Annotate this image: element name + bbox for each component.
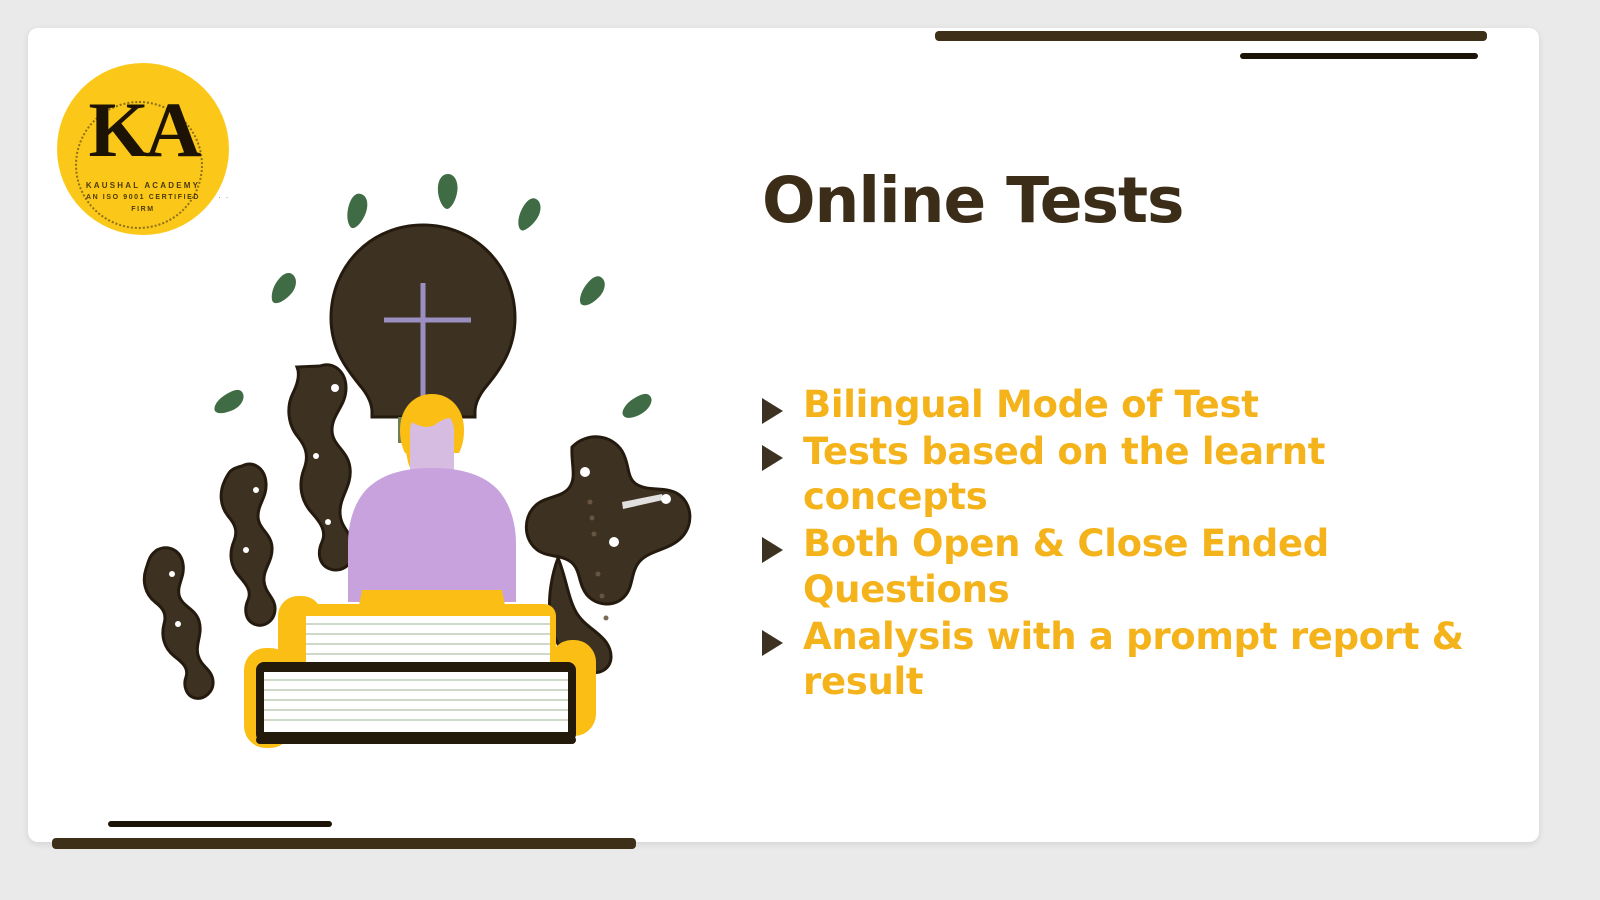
triangle-right-icon [762, 445, 783, 471]
top-thick-decor-bar [935, 31, 1487, 41]
list-item-label: Analysis with a prompt report & result [803, 614, 1522, 704]
slide-stage: KA KAUSHAL ACADEMY AN ISO 9001 CERTIFIED… [0, 0, 1600, 900]
list-item: Tests based on the learnt concepts [762, 429, 1522, 519]
list-item-label: Tests based on the learnt concepts [803, 429, 1522, 519]
list-item-label: Bilingual Mode of Test [803, 382, 1522, 427]
illustration-student-studying [120, 150, 740, 750]
triangle-right-icon [762, 398, 783, 424]
lower-book-bottom-edge [256, 736, 576, 744]
book-stack [244, 596, 596, 748]
content-column: Online Tests [762, 168, 1502, 234]
bottom-thin-decor-bar [108, 821, 332, 827]
page-title: Online Tests [762, 168, 1502, 234]
bottom-thick-decor-bar [52, 838, 636, 849]
top-thin-decor-bar [1240, 53, 1478, 59]
triangle-right-icon [762, 630, 783, 656]
list-item: Analysis with a prompt report & result [762, 614, 1522, 704]
triangle-right-icon [762, 537, 783, 563]
feature-bullet-list: Bilingual Mode of Test Tests based on th… [762, 382, 1522, 706]
list-item-label: Both Open & Close Ended Questions [803, 521, 1522, 611]
list-item: Bilingual Mode of Test [762, 382, 1522, 427]
list-item: Both Open & Close Ended Questions [762, 521, 1522, 611]
